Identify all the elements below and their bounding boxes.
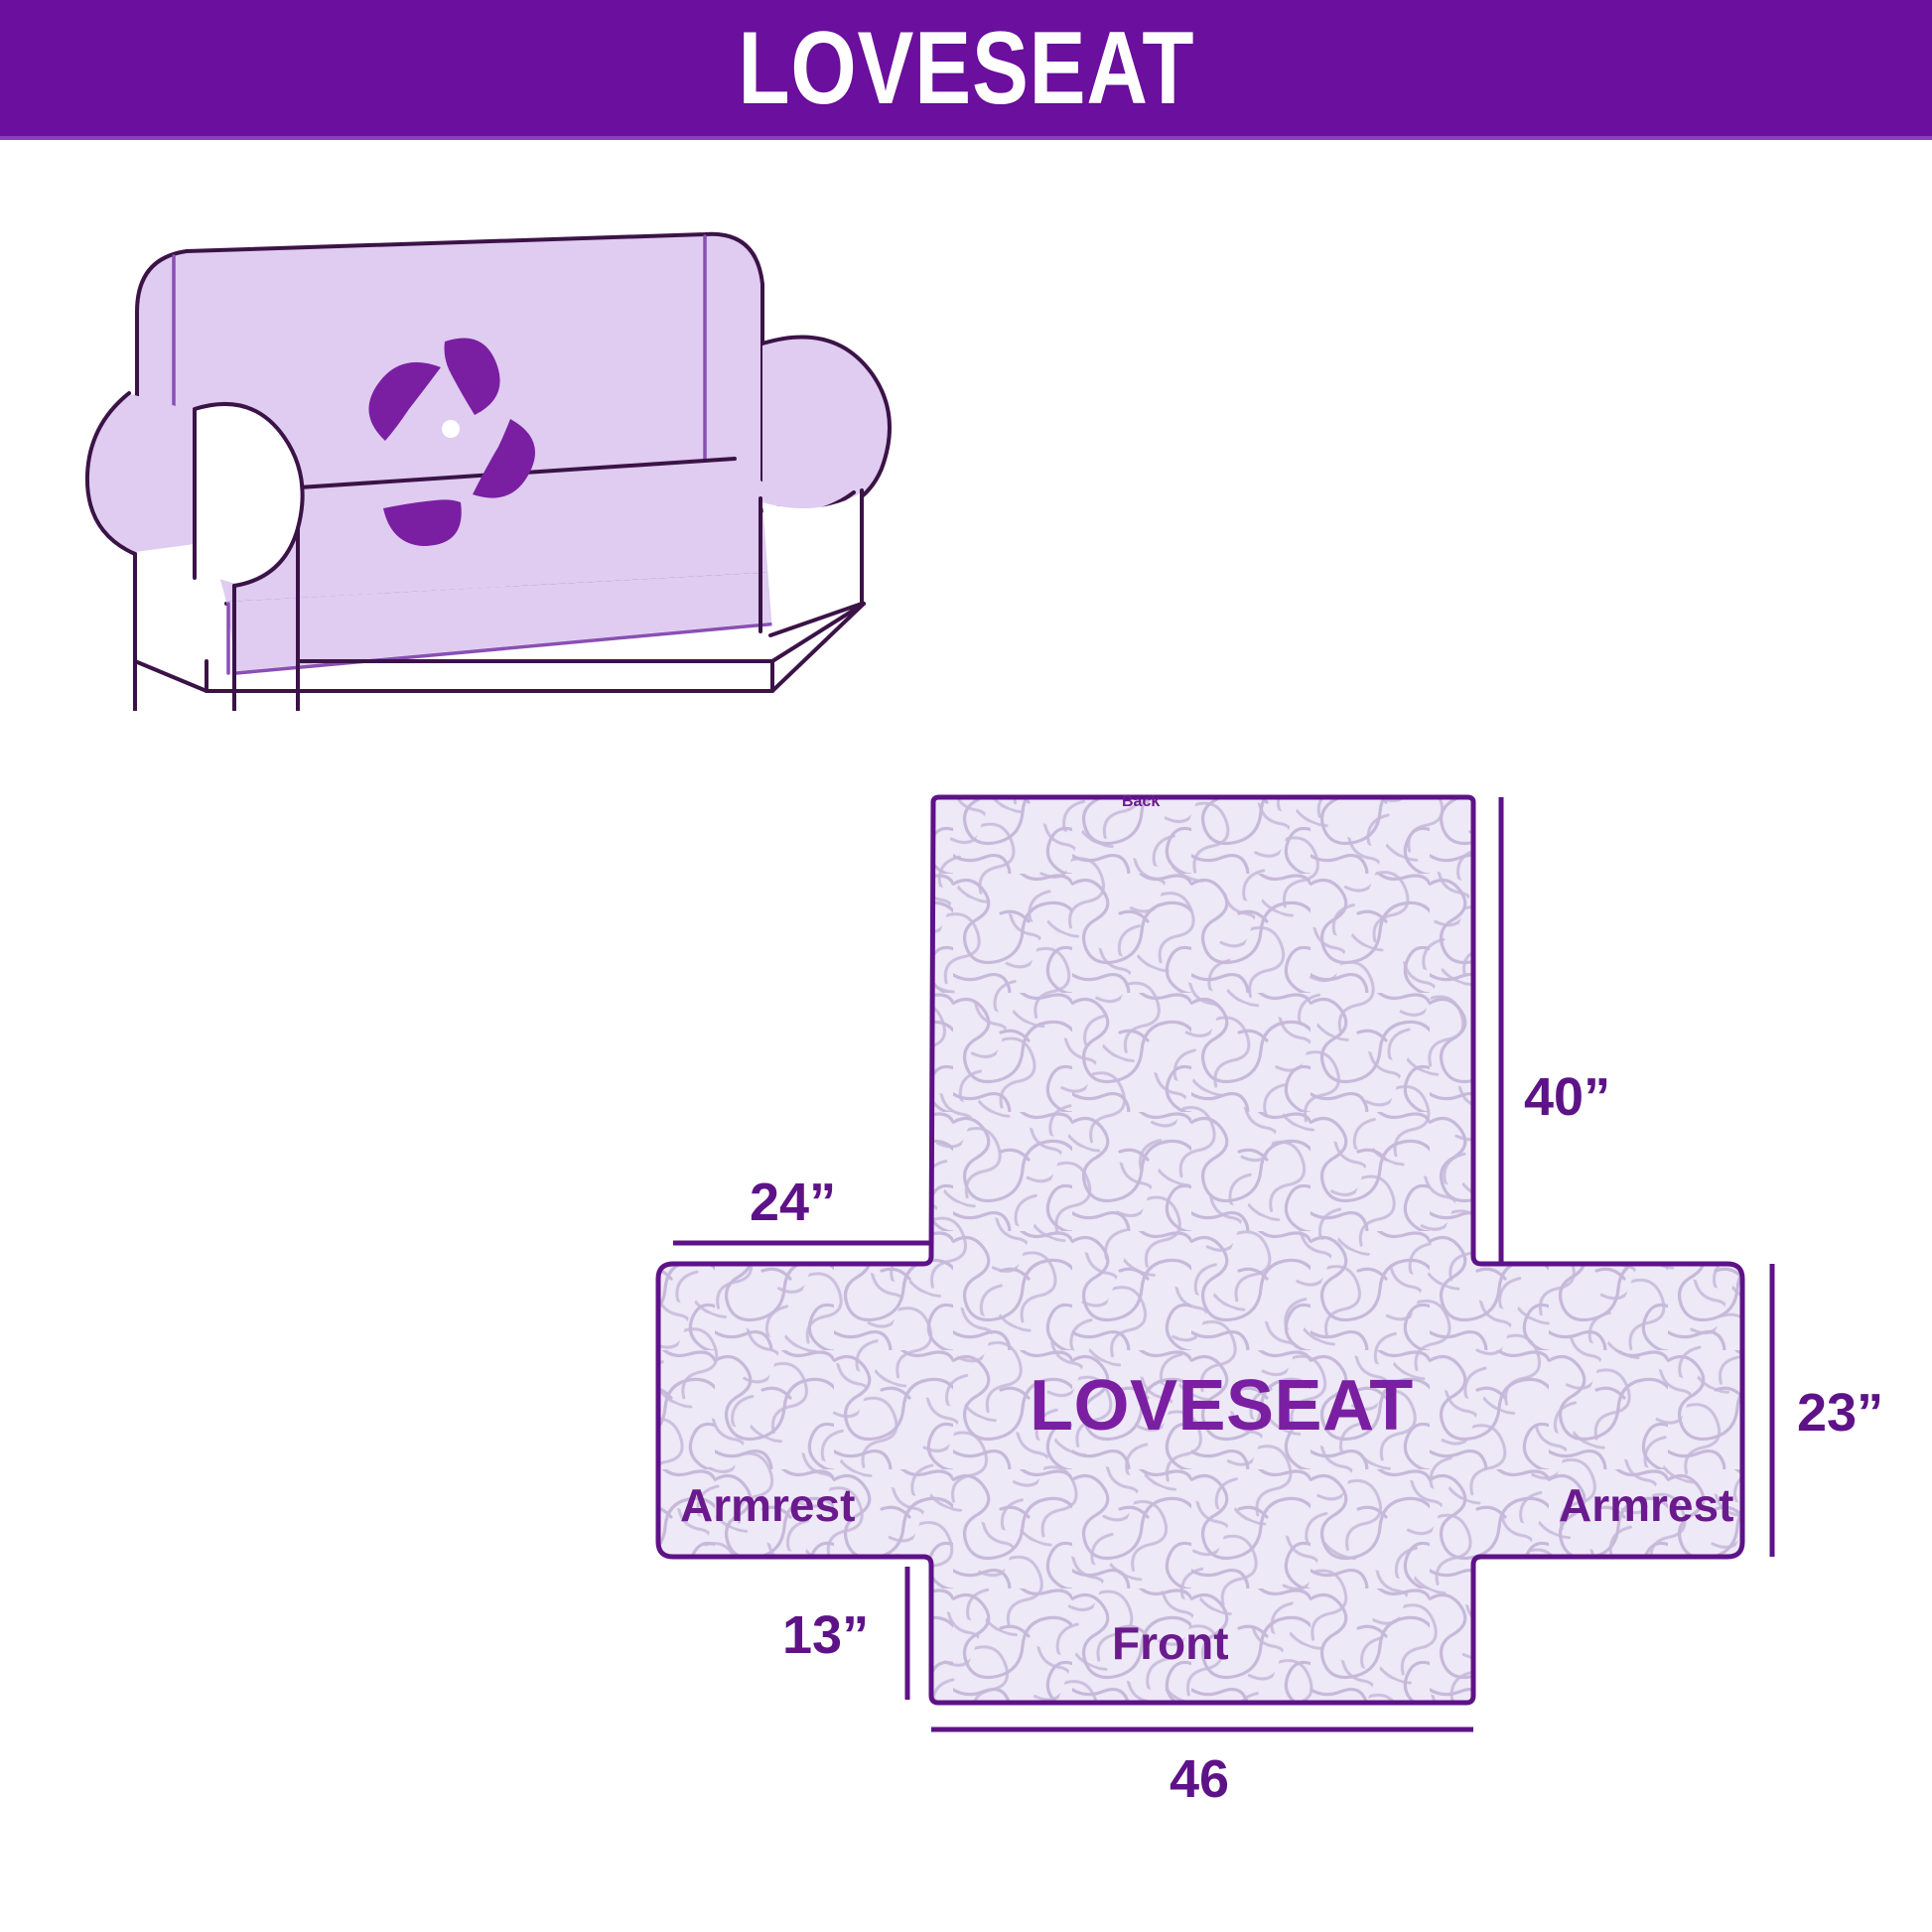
dimension-label-46: 46 [1170,1752,1229,1806]
page-title: LOVESEAT [738,17,1194,120]
cover-pattern-diagram: .edge { fill:none; stroke:#5E1287; strok… [596,755,1932,1866]
panel-label-armrest-right: Armrest [1559,1482,1733,1528]
panel-label-front: Front [1112,1620,1229,1666]
header-bar: LOVESEAT [0,0,1932,140]
loveseat-illustration: .lav { fill:#DFCCF0; } .wht { fill:#FFFF… [77,195,901,711]
dimension-label-13: 13” [782,1608,869,1662]
dimension-label-24: 24” [750,1175,836,1229]
dimension-label-23: 23” [1797,1386,1883,1440]
panel-label-armrest-left: Armrest [680,1482,855,1528]
panel-label-center: LOVESEAT [1030,1370,1414,1442]
size-chart-page: LOVESEAT .lav { fill:#DFCCF0; } .wht { f… [0,0,1932,1932]
dimension-label-40: 40” [1524,1070,1610,1124]
panel-label-back: Back [1122,794,1160,810]
